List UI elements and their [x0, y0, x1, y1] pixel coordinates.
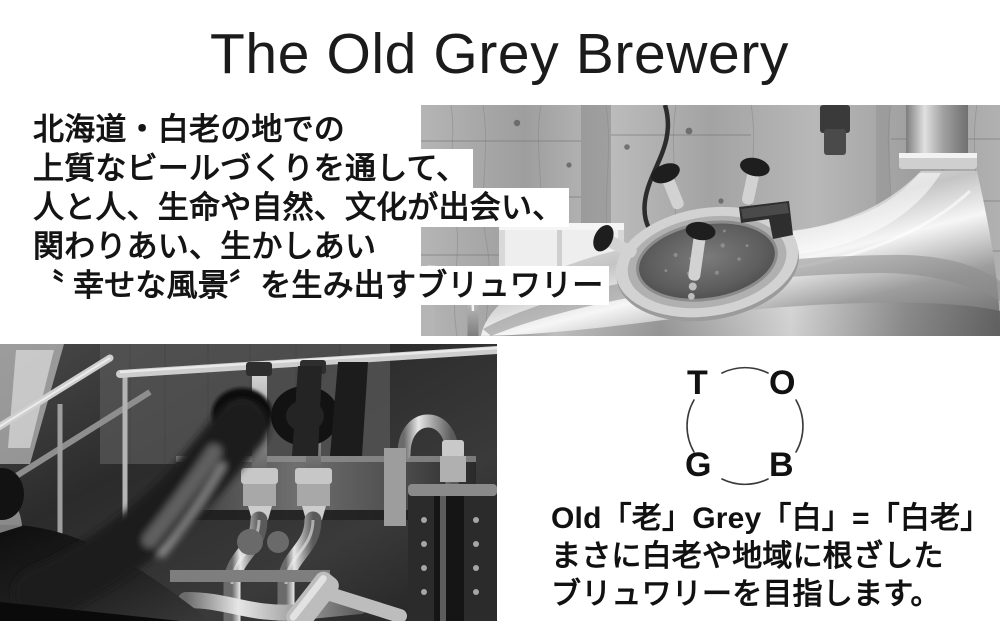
logo-letter-g: G	[685, 448, 711, 482]
lead-copy-line-3: 人と人、生命や自然、文化が出会い、	[0, 188, 569, 227]
naming-copy-line-3: ブリュワリーを目指します。	[551, 576, 991, 614]
logo-letter-b: B	[769, 448, 794, 482]
brewery-promo-page: The Old Grey Brewery	[0, 0, 1000, 621]
naming-copy-line-1: Old「老」Grey「白」=「白老」	[551, 500, 991, 538]
naming-copy: Old「老」Grey「白」=「白老」 まさに白老や地域に根ざした ブリュワリーを…	[551, 500, 991, 614]
lead-copy: 北海道・白老の地での 上質なビールづくりを通して、 人と人、生命や自然、文化が出…	[0, 110, 600, 305]
photo-brewer-at-valves	[0, 344, 497, 621]
lead-copy-line-1: 北海道・白老の地での	[0, 110, 351, 149]
logo-letter-o: O	[769, 366, 795, 400]
logo-letter-t: T	[687, 366, 708, 400]
page-title: The Old Grey Brewery	[210, 22, 789, 86]
togb-logo-icon: T O G B	[665, 352, 825, 500]
lead-copy-line-4: 関わりあい、生かしあい	[0, 227, 382, 266]
naming-copy-line-2: まさに白老や地域に根ざした	[551, 538, 991, 576]
lead-copy-line-5: 〝 幸せな風景〞を生み出すブリュワリー	[0, 266, 609, 305]
lead-copy-line-2: 上質なビールづくりを通して、	[0, 149, 473, 188]
